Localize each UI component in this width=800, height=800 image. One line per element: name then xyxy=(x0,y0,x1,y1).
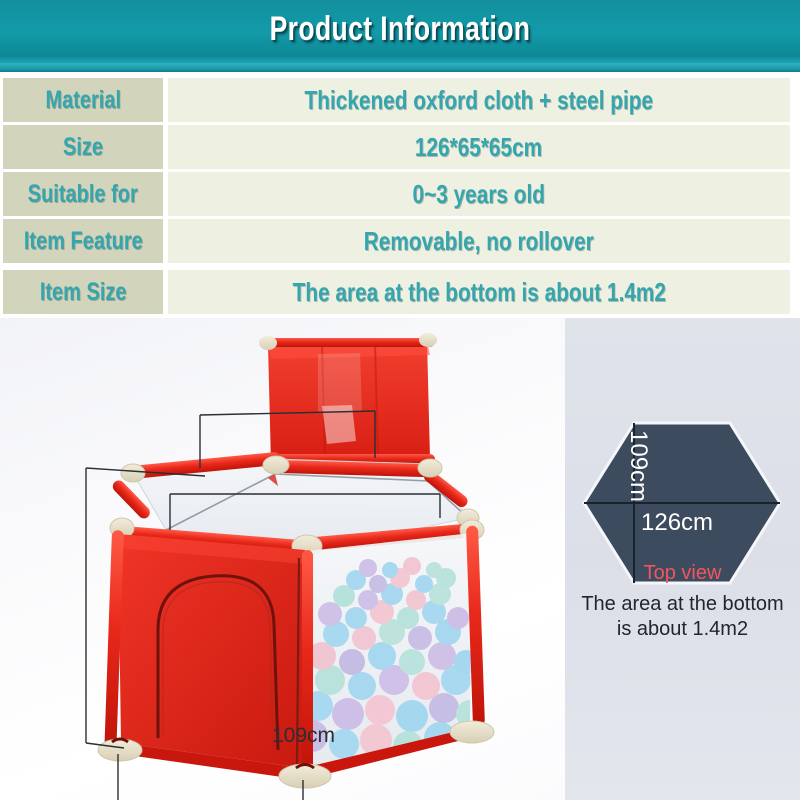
spec-value-cell: Thickened oxford cloth + steel pipe xyxy=(168,78,790,122)
hexagon-dim-vertical-text: 109cm xyxy=(625,430,652,502)
table-row: Size 126*65*65cm xyxy=(0,125,800,169)
specification-table: Material Thickened oxford cloth + steel … xyxy=(0,74,800,316)
product-photo: 109cm 126cm 65cm 65cm xyxy=(0,318,565,800)
spec-label-cell: Suitable for xyxy=(3,172,163,216)
spec-value-text: Removable, no rollover xyxy=(364,226,594,257)
spec-value-text: 0~3 years old xyxy=(413,179,545,210)
area-caption: The area at the bottom is about 1.4m2 xyxy=(565,592,800,642)
spec-value-cell: The area at the bottom is about 1.4m2 xyxy=(168,270,790,314)
spec-label-cell: Size xyxy=(3,125,163,169)
page-title: Product Information xyxy=(88,0,712,58)
spec-value-text: The area at the bottom is about 1.4m2 xyxy=(292,277,665,308)
spec-value-text: Thickened oxford cloth + steel pipe xyxy=(305,85,653,116)
area-caption-line2: is about 1.4m2 xyxy=(565,617,800,642)
spec-value-cell: Removable, no rollover xyxy=(168,219,790,263)
table-row: Item Feature Removable, no rollover xyxy=(0,219,800,263)
spec-value-cell: 126*65*65cm xyxy=(168,125,790,169)
table-row: Material Thickened oxford cloth + steel … xyxy=(0,78,800,122)
spec-label-text: Material xyxy=(45,86,121,115)
playpen-canopy xyxy=(259,333,437,464)
spec-value-text: 126*65*65cm xyxy=(415,132,542,163)
header-banner: Product Information xyxy=(0,0,800,72)
spec-label-cell: Material xyxy=(3,78,163,122)
table-row: Suitable for 0~3 years old xyxy=(0,172,800,216)
spec-value-cell: 0~3 years old xyxy=(168,172,790,216)
spec-label-cell: Item Feature xyxy=(3,219,163,263)
spec-label-cell: Item Size xyxy=(3,270,163,314)
area-caption-line1: The area at the bottom xyxy=(565,592,800,617)
product-information-infographic: Product Information Material Thickened o… xyxy=(0,0,800,800)
top-view-panel: 109cm 126cm Top view The area at the bot… xyxy=(565,318,800,800)
spec-label-text: Item Feature xyxy=(24,227,143,256)
dimension-label-109cm: 109cm xyxy=(272,724,335,748)
hexagon-dim-horizontal-text: 126cm xyxy=(641,509,713,536)
spec-label-text: Item Size xyxy=(40,278,127,307)
table-row: Item Size The area at the bottom is abou… xyxy=(0,270,800,314)
spec-label-text: Suitable for xyxy=(28,180,138,209)
top-view-caption: Top view xyxy=(565,562,800,585)
spec-label-text: Size xyxy=(63,133,103,162)
